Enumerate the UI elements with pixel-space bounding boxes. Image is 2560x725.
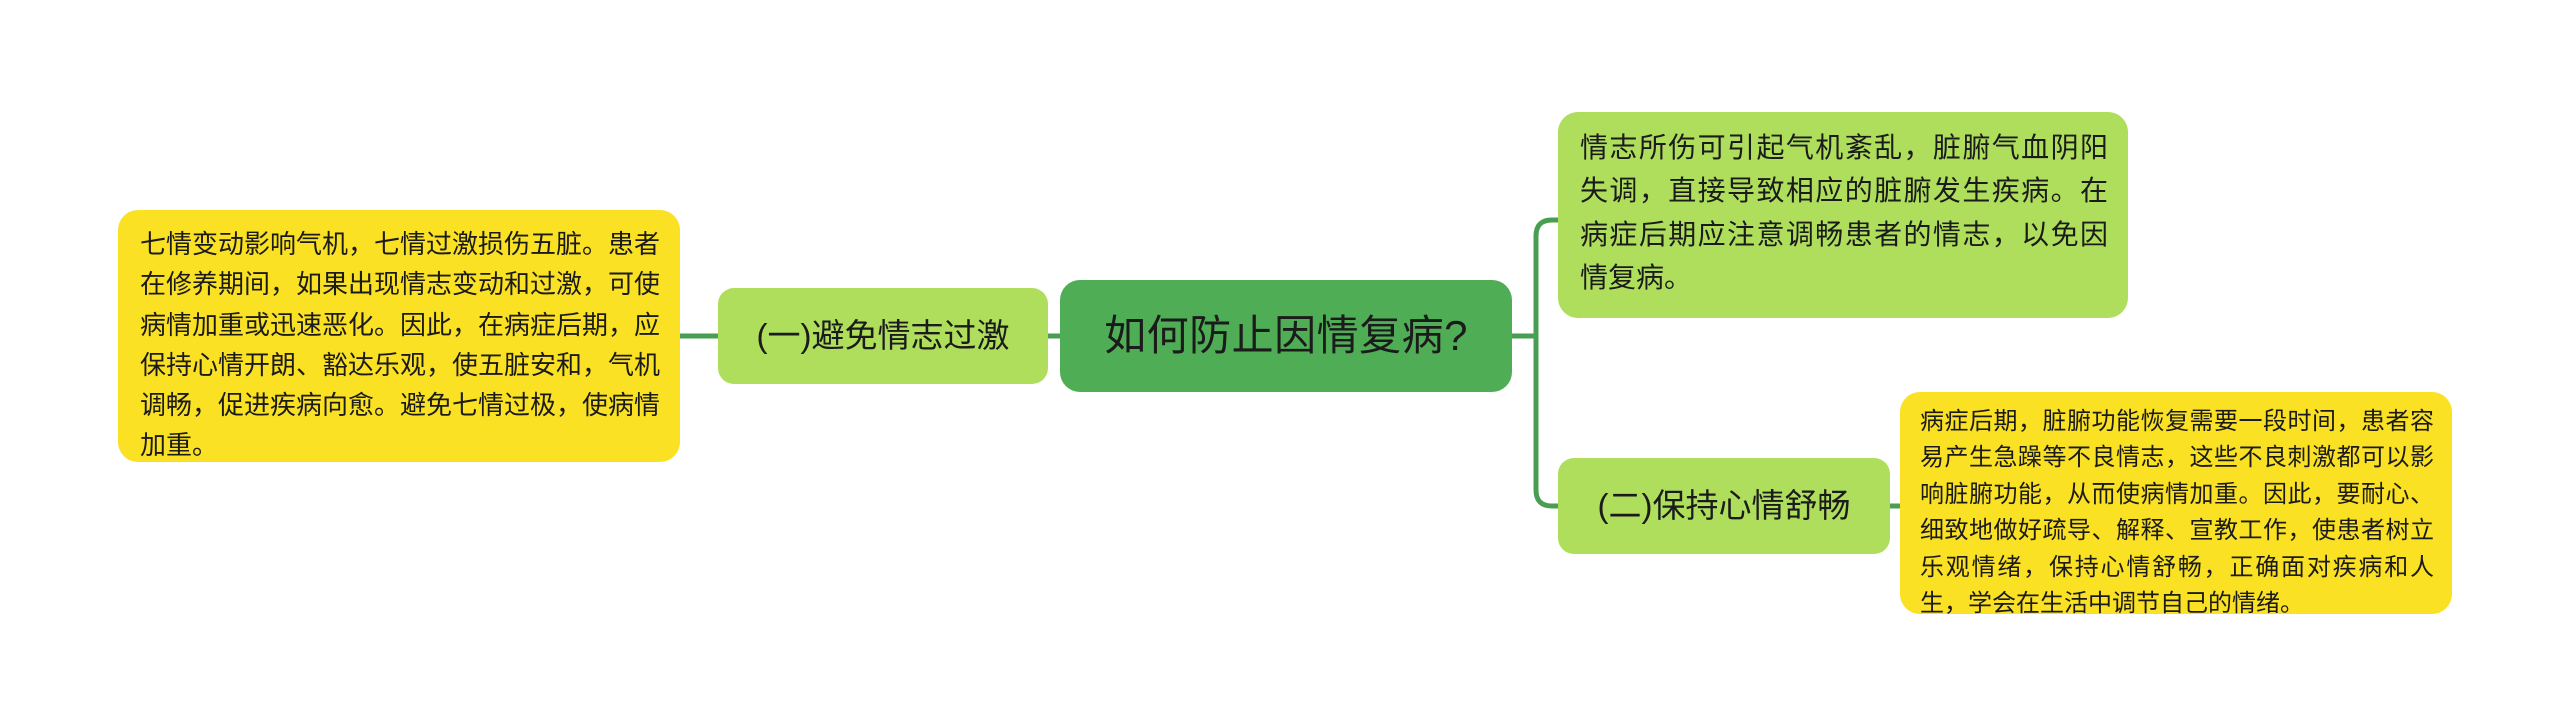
- branch-label: (一)避免情志过激: [757, 317, 1010, 355]
- mindmap-canvas: 七情变动影响气机，七情过激损伤五脏。患者在修养期间，如果出现情志变动和过激，可使…: [0, 0, 2560, 725]
- detail-text: 病症后期，脏腑功能恢复需要一段时间，患者容易产生急躁等不良情志，这些不良刺激都可…: [1920, 404, 2434, 623]
- connector-right-split-down: [1536, 336, 1558, 506]
- branch-label: (二)保持心情舒畅: [1598, 487, 1851, 525]
- root-node[interactable]: 如何防止因情复病?: [1060, 280, 1512, 392]
- root-label: 如何防止因情复病?: [1104, 312, 1468, 360]
- detail-text: 七情变动影响气机，七情过激损伤五脏。患者在修养期间，如果出现情志变动和过激，可使…: [140, 224, 660, 466]
- detail-text: 情志所伤可引起气机紊乱，脏腑气血阴阳失调，直接导致相应的脏腑发生疾病。在病症后期…: [1580, 126, 2108, 300]
- connector-right-split: [1536, 220, 1558, 336]
- branch-node-avoid-emotional-excess[interactable]: (一)避免情志过激: [718, 288, 1048, 384]
- detail-box-avoid-emotional-excess[interactable]: 七情变动影响气机，七情过激损伤五脏。患者在修养期间，如果出现情志变动和过激，可使…: [118, 210, 680, 462]
- detail-box-root-explanation[interactable]: 情志所伤可引起气机紊乱，脏腑气血阴阳失调，直接导致相应的脏腑发生疾病。在病症后期…: [1558, 112, 2128, 318]
- detail-box-keep-mood-comfortable[interactable]: 病症后期，脏腑功能恢复需要一段时间，患者容易产生急躁等不良情志，这些不良刺激都可…: [1900, 392, 2452, 614]
- branch-node-keep-mood-comfortable[interactable]: (二)保持心情舒畅: [1558, 458, 1890, 554]
